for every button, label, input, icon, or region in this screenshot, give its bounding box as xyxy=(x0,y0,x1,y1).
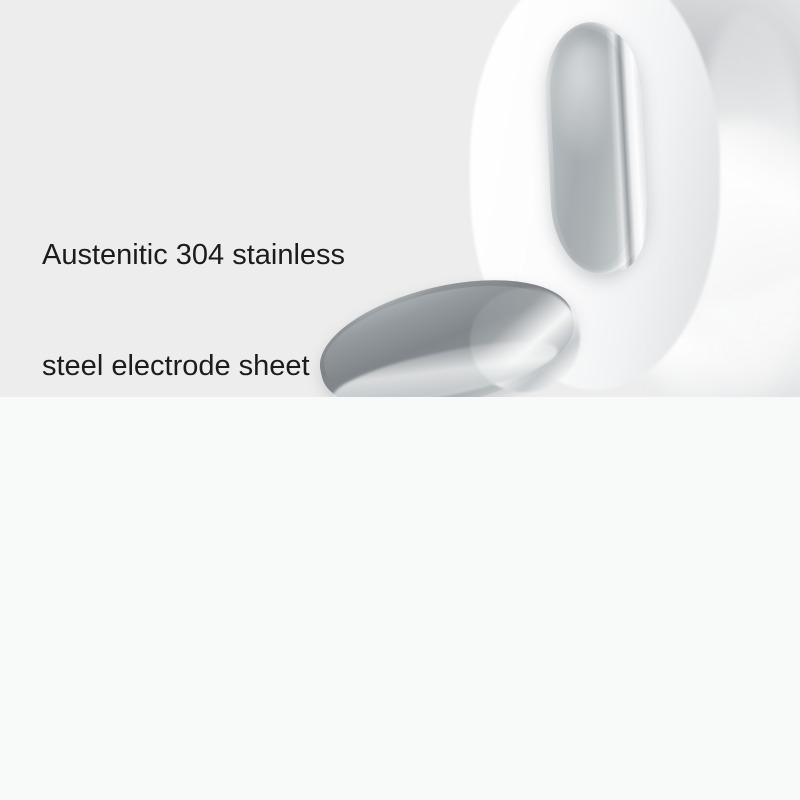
electrode-caption-line-1: Austenitic 304 stainless xyxy=(42,237,439,274)
electrode-caption-line-2: steel electrode sheet xyxy=(42,348,439,385)
product-feature-image: Austenitic 304 stainless steel electrode… xyxy=(0,0,800,800)
elastic-arm-feature-panel: Elastic Arm Technology Good resilience a… xyxy=(0,397,800,800)
electrode-feature-panel: Austenitic 304 stainless steel electrode… xyxy=(0,0,800,397)
electrode-caption: Austenitic 304 stainless steel electrode… xyxy=(42,163,439,397)
